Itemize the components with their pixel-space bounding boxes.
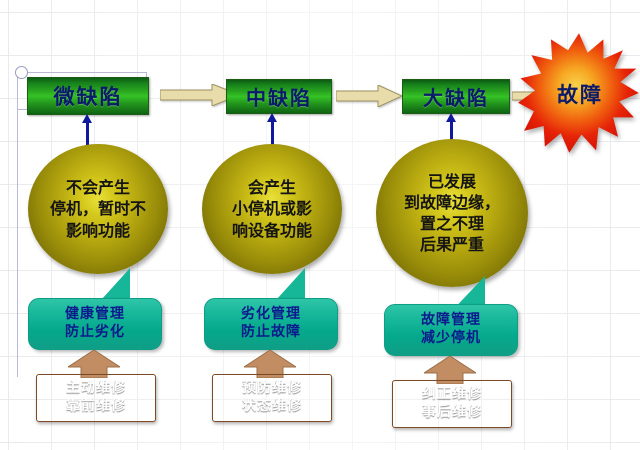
detail-ellipse-2-line-2: 小停机或影 xyxy=(232,198,312,219)
detail-ellipse-3-line-3: 置之不理 xyxy=(404,213,500,234)
stage-box-3[interactable]: 大缺陷 xyxy=(402,79,510,114)
management-callout-2[interactable]: 劣化管理 防止故障 xyxy=(204,298,338,350)
management-callout-2-line-2: 防止故障 xyxy=(241,324,301,342)
maintenance-box-2[interactable]: 预防维修 状态维修 xyxy=(212,374,332,422)
failure-burst-label: 故障 xyxy=(536,79,624,109)
stage-box-3-label: 大缺陷 xyxy=(423,82,489,111)
connector-ellipse3-arrowhead-icon xyxy=(446,113,456,122)
detail-ellipse-2-line-1: 会产生 xyxy=(232,177,312,198)
slide-selection-edge-left xyxy=(17,72,18,377)
stage-box-1[interactable]: 微缺陷 xyxy=(27,77,149,115)
maintenance-box-3[interactable]: 纠正维修 事后维修 xyxy=(392,380,512,428)
management-callout-3[interactable]: 故障管理 减少停机 xyxy=(384,304,518,356)
detail-ellipse-2-line-3: 响设备功能 xyxy=(232,220,312,241)
maintenance-box-1-line-2: 靠前维修 xyxy=(66,398,126,416)
detail-ellipse-1-line-2: 停机，暂时不 xyxy=(50,198,146,219)
management-callout-1[interactable]: 健康管理 防止劣化 xyxy=(28,298,162,350)
detail-ellipse-1-line-1: 不会产生 xyxy=(50,177,146,198)
connector-ellipse1-arrowhead-icon xyxy=(82,114,92,123)
detail-ellipse-3-line-4: 后果严重 xyxy=(404,234,500,255)
maintenance-box-1[interactable]: 主动维修 靠前维修 xyxy=(36,374,156,422)
detail-ellipse-2[interactable]: 会产生 小停机或影 响设备功能 xyxy=(202,144,342,274)
connector-ellipse2-arrowhead-icon xyxy=(267,113,277,122)
management-callout-3-line-2: 减少停机 xyxy=(421,330,481,348)
stage-box-1-label: 微缺陷 xyxy=(54,81,123,111)
stage-box-2-label: 中缺陷 xyxy=(246,82,312,111)
detail-ellipse-3-line-2: 到故障边缘， xyxy=(404,192,500,213)
maintenance-box-1-line-1: 主动维修 xyxy=(66,380,126,398)
detail-ellipse-3-line-1: 已发展 xyxy=(404,171,500,192)
maintenance-box-2-line-1: 预防维修 xyxy=(242,380,302,398)
maintenance-box-3-line-1: 纠正维修 xyxy=(422,386,482,404)
management-callout-3-line-1: 故障管理 xyxy=(421,312,481,330)
management-callout-2-line-1: 劣化管理 xyxy=(241,306,301,324)
stage-box-2[interactable]: 中缺陷 xyxy=(226,79,332,114)
management-callout-1-line-1: 健康管理 xyxy=(65,306,125,324)
management-callout-1-line-2: 防止劣化 xyxy=(65,324,125,342)
detail-ellipse-1[interactable]: 不会产生 停机，暂时不 影响功能 xyxy=(28,144,168,274)
maintenance-box-2-line-2: 状态维修 xyxy=(242,398,302,416)
maintenance-box-3-line-2: 事后维修 xyxy=(422,404,482,422)
detail-ellipse-1-line-3: 影响功能 xyxy=(50,220,146,241)
detail-ellipse-3[interactable]: 已发展 到故障边缘， 置之不理 后果严重 xyxy=(376,139,528,287)
arrow-stage2-to-stage3 xyxy=(336,85,402,107)
